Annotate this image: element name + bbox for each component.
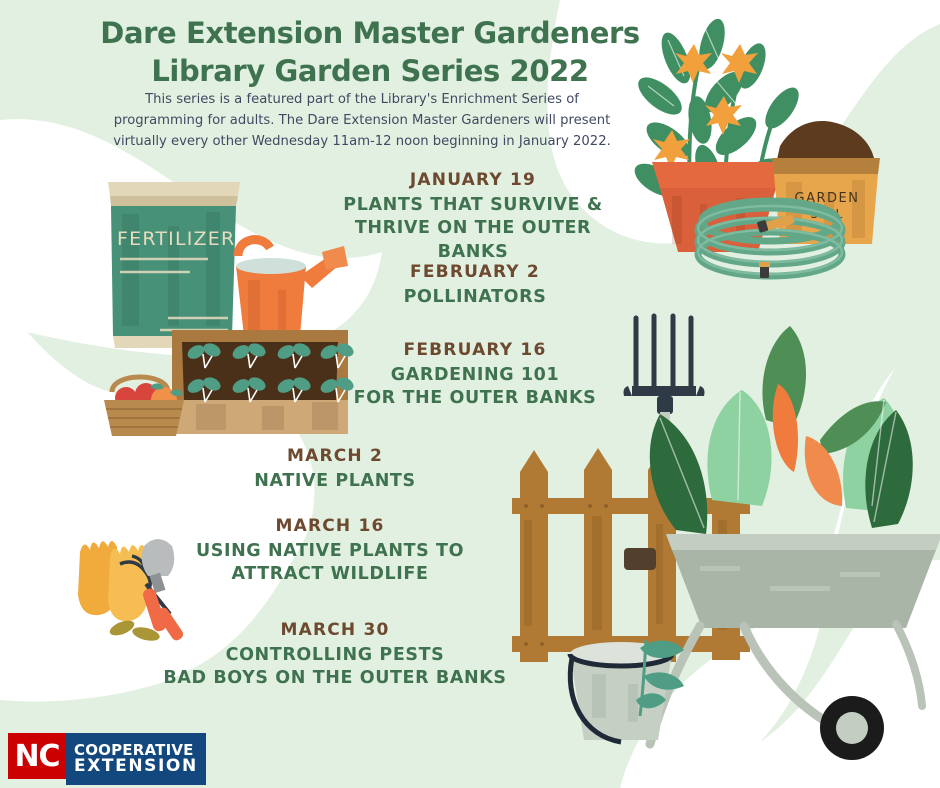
event-topic: USING NATIVE PLANTS TOATTRACT WILDLIFE xyxy=(150,540,510,587)
event-item: FEBRUARY 16 GARDENING 101FOR THE OUTER B… xyxy=(330,340,620,411)
logo-nc-mark: NC xyxy=(8,733,66,779)
event-topic: PLANTS THAT SURVIVE &THRIVE ON THE OUTER… xyxy=(318,194,628,264)
page-title: Dare Extension Master Gardeners Library … xyxy=(96,14,644,91)
logo-line-2: EXTENSION xyxy=(74,758,198,775)
poster-canvas: GARDEN SOIL xyxy=(0,0,940,788)
event-topic: POLLINATORS xyxy=(330,286,620,309)
event-date: MARCH 30 xyxy=(140,620,530,640)
wheelbarrow-wheel xyxy=(820,696,884,760)
wheelbarrow-plants xyxy=(650,326,913,534)
title-line-1: Dare Extension Master Gardeners xyxy=(96,14,644,52)
event-item: MARCH 2 NATIVE PLANTS xyxy=(180,446,490,493)
event-date: FEBRUARY 16 xyxy=(330,340,620,360)
series-description: This series is a featured part of the Li… xyxy=(104,90,620,153)
event-date: MARCH 16 xyxy=(150,516,510,536)
event-item: MARCH 30 CONTROLLING PESTSBAD BOYS ON TH… xyxy=(140,620,530,691)
event-date: FEBRUARY 2 xyxy=(330,262,620,282)
nc-cooperative-extension-logo: NC COOPERATIVE EXTENSION xyxy=(8,733,206,779)
event-item: MARCH 16 USING NATIVE PLANTS TOATTRACT W… xyxy=(150,516,510,587)
event-topic: CONTROLLING PESTSBAD BOYS ON THE OUTER B… xyxy=(140,644,530,691)
event-topic: NATIVE PLANTS xyxy=(180,470,490,493)
event-item: FEBRUARY 2 POLLINATORS xyxy=(330,262,620,309)
bucket-sprout xyxy=(636,640,684,716)
event-topic: GARDENING 101FOR THE OUTER BANKS xyxy=(330,364,620,411)
event-date: JANUARY 19 xyxy=(318,170,628,190)
logo-wordmark: COOPERATIVE EXTENSION xyxy=(66,733,206,785)
event-date: MARCH 2 xyxy=(180,446,490,466)
title-line-2: Library Garden Series 2022 xyxy=(96,52,644,90)
event-item: JANUARY 19 PLANTS THAT SURVIVE &THRIVE O… xyxy=(318,170,628,264)
